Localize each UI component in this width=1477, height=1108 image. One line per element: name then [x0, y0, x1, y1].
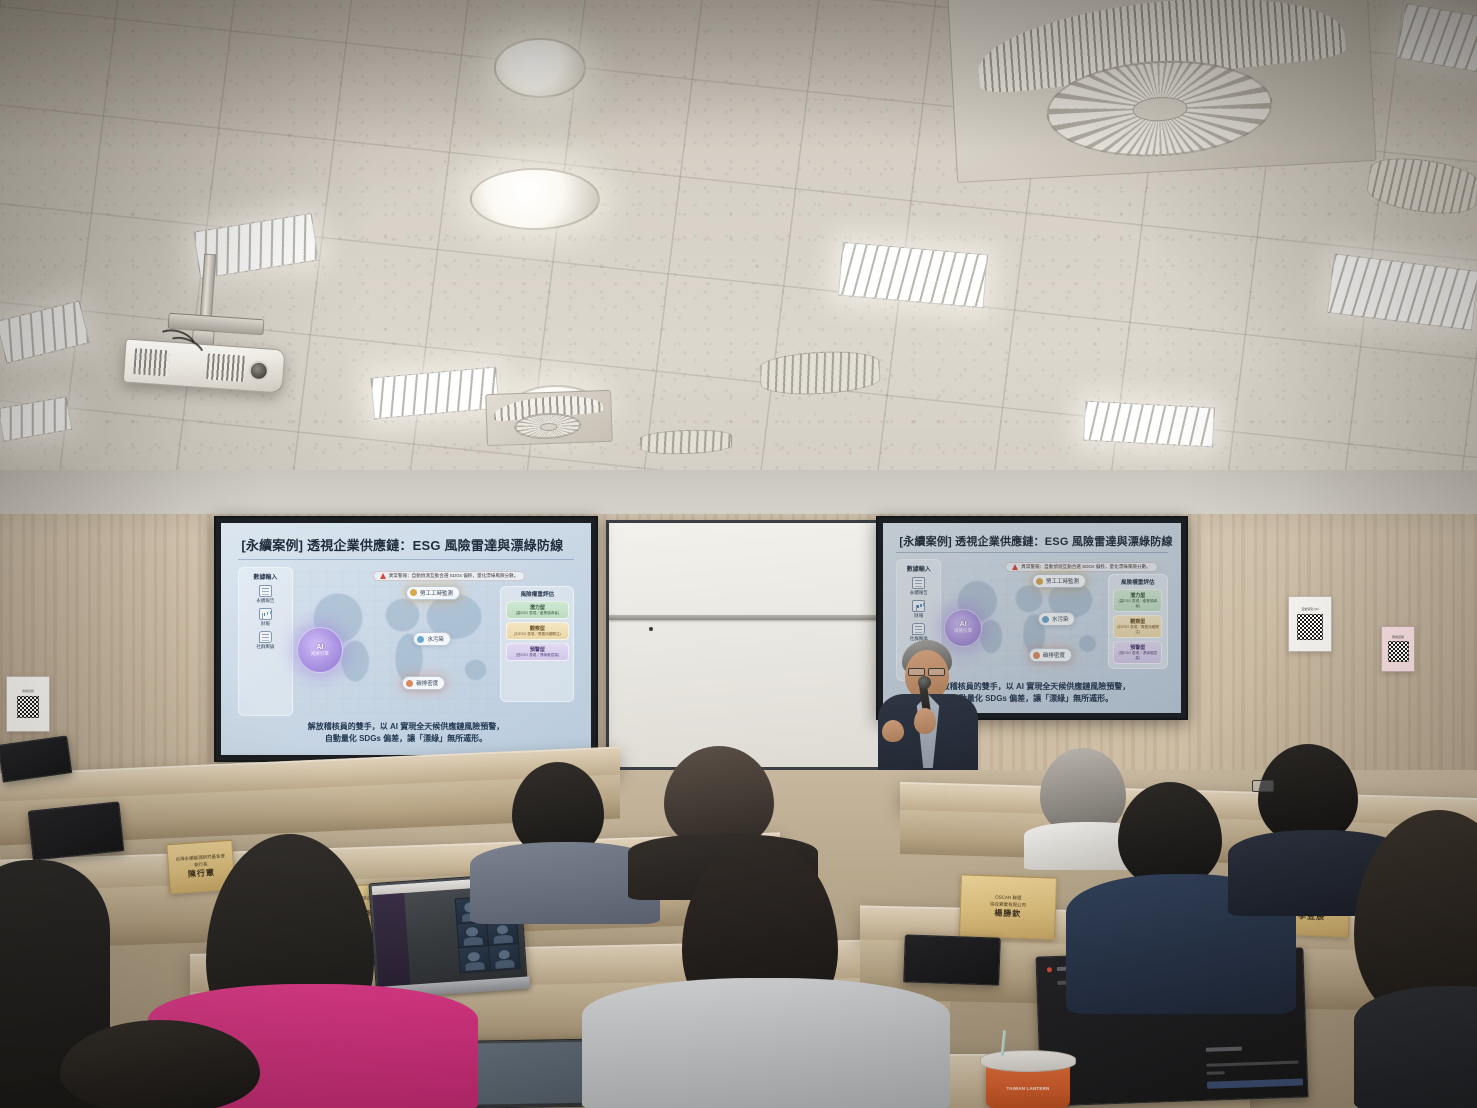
speaker-glasses — [908, 668, 925, 676]
water-icon — [1042, 616, 1049, 623]
risk-card-title: 觀察型 — [509, 625, 566, 632]
worker-icon — [1036, 578, 1043, 585]
slide-title-underline — [238, 559, 575, 560]
qr-code-icon — [1297, 614, 1323, 640]
whiteboard — [606, 520, 886, 770]
risk-card-sub: (中ESG 表現／需要持續關注) — [509, 632, 566, 637]
data-source-item: 財報 — [912, 600, 925, 619]
risk-card-sub: (高ESG 表現／產業領導者) — [509, 611, 566, 616]
data-source-item: 永續報告 — [910, 577, 928, 596]
risk-node-carbon: 碳排密度 — [1029, 648, 1072, 662]
risk-card-sub: (中ESG 表現／需要持續關注) — [1116, 625, 1159, 635]
screen-text-line — [1206, 1061, 1298, 1067]
torso — [1354, 986, 1477, 1108]
whiteboard-marker-tray — [609, 615, 883, 620]
slide-caption-line2: 自動量化 SDGs 偏差，讓「漂綠」無所遁形。 — [251, 733, 562, 745]
qr-poster: 活動報到 QR — [1288, 596, 1332, 652]
risk-card-title: 預警型 — [509, 646, 566, 653]
data-source-label: 永續報告 — [256, 598, 274, 604]
speaker-hand-gesture — [882, 720, 904, 742]
whiteboard-magnet — [649, 627, 653, 631]
microphone-head — [918, 676, 931, 689]
carbon-icon — [406, 680, 413, 687]
app-status-dot — [1047, 967, 1052, 972]
cup-lid — [980, 1050, 1076, 1072]
qr-code-icon — [17, 696, 39, 718]
hair — [60, 1020, 260, 1108]
risk-weight-header: 風險權重評估 — [1121, 578, 1155, 586]
audience-member — [60, 1020, 260, 1108]
data-input-header: 數據輸入 — [907, 564, 931, 573]
slide-caption: 解放稽核員的雙手，以 AI 實現全天候供應鏈風險預警， 自動量化 SDGs 偏差… — [251, 721, 562, 746]
head — [1118, 782, 1222, 888]
slide-title: [永續案例] 透視企業供應鏈：ESG 風險雷達與漂綠防線 — [241, 535, 563, 554]
risk-card-potential: 潛力型 (高ESG 表現／產業領導者) — [1113, 589, 1162, 612]
data-source-label: 財報 — [261, 621, 270, 627]
risk-card-title: 潛力型 — [509, 604, 566, 611]
torso — [582, 978, 950, 1108]
head — [1258, 744, 1358, 844]
poster-title: 會場資訊 — [10, 690, 46, 694]
alert-text: 異常警報：自動偵測互動合選 SDGs 偏移，量化漂綠風險分數。 — [1021, 564, 1151, 570]
warning-triangle-icon — [1012, 564, 1018, 570]
risk-node-label: 勞工工時監測 — [1046, 577, 1079, 585]
risk-node-label: 碳排密度 — [1043, 651, 1065, 659]
projector-vent — [206, 353, 246, 382]
screen-text-line — [1206, 1047, 1242, 1052]
conference-room-photo: 活動報到 QR 問卷回饋 會場資訊 [永續案例] 透視企業供應鏈：ESG 風險雷… — [0, 0, 1477, 1108]
worker-icon — [410, 589, 417, 596]
audience-member — [1354, 810, 1477, 1108]
risk-node-label: 碳排密度 — [416, 679, 438, 687]
risk-card-sub: (低ESG 表現／漂綠風險高) — [1116, 651, 1159, 661]
water-icon — [417, 636, 424, 643]
screen-input-field[interactable] — [1207, 1078, 1303, 1088]
risk-node-label: 水污染 — [427, 635, 444, 643]
ai-risk-engine-core: AI 風險引擎 — [297, 627, 343, 673]
slide-title-underline — [896, 552, 1167, 553]
ceiling-shading — [0, 0, 1477, 500]
chart-icon — [259, 608, 272, 620]
data-source-label: 社群輿論 — [256, 644, 274, 650]
slide-content-left: [永續案例] 透視企業供應鏈：ESG 風險雷達與漂綠防線 數據輸入 永續報告 財… — [221, 523, 591, 755]
slide-risk-weight-panel: 風險權重評估 潛力型 (高ESG 表現／產業領導者) 觀察型 (中ESG 表現／… — [500, 586, 574, 702]
speaker-glasses — [928, 668, 945, 676]
risk-node-carbon: 碳排密度 — [402, 676, 445, 690]
poster-title: 活動報到 QR — [1292, 608, 1328, 612]
risk-node-labor: 勞工工時監測 — [1032, 574, 1086, 588]
qr-poster: 會場資訊 — [6, 676, 50, 732]
risk-node-label: 水污染 — [1052, 615, 1069, 623]
risk-card-watch: 觀察型 (中ESG 表現／需要持續關注) — [506, 622, 569, 640]
risk-card-alert: 預警型 (低ESG 表現／漂綠風險高) — [1113, 641, 1162, 664]
data-source-item: 財報 — [259, 608, 272, 627]
chat-icon — [259, 631, 272, 643]
projection-screen-left: [永續案例] 透視企業供應鏈：ESG 風險雷達與漂綠防線 數據輸入 永續報告 財… — [214, 516, 598, 762]
document-icon — [912, 577, 925, 589]
core-label-primary: AI — [316, 644, 323, 651]
document-icon — [259, 585, 272, 597]
qr-poster: 問卷回饋 — [1381, 626, 1415, 672]
risk-card-alert: 預警型 (低ESG 表現／漂綠風險高) — [506, 643, 569, 661]
qr-code-icon — [1388, 641, 1409, 662]
alert-text: 異常警報：自動偵測互動合選 SDGs 偏移，量化漂綠風險分數。 — [389, 573, 519, 579]
core-label-secondary: 風險引擎 — [954, 628, 972, 634]
name-placard: OSCAR 聯盟 協合實業有限公司 楊勝欽 — [959, 874, 1057, 939]
data-source-label: 財報 — [914, 613, 923, 619]
cup-brand-text: TAIWAN LANTERN — [986, 1086, 1070, 1091]
risk-node-label: 勞工工時監測 — [420, 589, 453, 597]
screen-text-line — [1207, 1071, 1225, 1075]
ceiling — [0, 0, 1477, 500]
risk-card-sub: (低ESG 表現／漂綠風險高) — [509, 653, 566, 658]
poster-title: 問卷回饋 — [1385, 636, 1411, 640]
carbon-icon — [1033, 652, 1040, 659]
speaker-hand-mic — [914, 708, 936, 734]
risk-card-sub: (高ESG 表現／產業領導者) — [1116, 599, 1159, 609]
placard-name: 楊勝欽 — [994, 908, 1021, 920]
risk-node-water: 水污染 — [413, 632, 451, 646]
data-source-label: 永續報告 — [910, 590, 928, 596]
warning-triangle-icon — [380, 573, 386, 579]
chat-icon — [912, 623, 925, 635]
slide-alert-banner: 異常警報：自動偵測互動合選 SDGs 偏移，量化漂綠風險分數。 — [1005, 562, 1158, 572]
glasses — [1252, 780, 1274, 792]
data-source-item: 永續報告 — [256, 585, 274, 604]
data-input-header: 數據輸入 — [253, 572, 277, 581]
risk-weight-header: 風險權重評估 — [521, 590, 555, 598]
risk-card-potential: 潛力型 (高ESG 表現／產業領導者) — [506, 601, 569, 619]
projector-lens — [248, 360, 269, 381]
chart-icon — [912, 600, 925, 612]
core-label-primary: AI — [960, 621, 967, 628]
risk-node-water: 水污染 — [1038, 612, 1076, 626]
data-source-item: 社群輿論 — [256, 631, 274, 650]
slide-data-input-panel: 數據輸入 永續報告 財報 社群輿論 — [238, 567, 294, 715]
slide-alert-banner: 異常警報：自動偵測互動合選 SDGs 偏移，量化漂綠風險分數。 — [373, 571, 526, 581]
placard-org-line1: OSCAR 聯盟 — [995, 894, 1021, 901]
video-participant-tile — [489, 944, 520, 970]
slide-title: [永續案例] 透視企業供應鏈：ESG 風險雷達與漂綠防線 — [899, 533, 1172, 549]
audience-member — [582, 840, 950, 1108]
risk-node-labor: 勞工工時監測 — [406, 586, 460, 600]
slide-risk-weight-panel: 風險權重評估 潛力型 (高ESG 表現／產業領導者) 觀察型 (中ESG 表現／… — [1108, 574, 1168, 669]
slide-caption-line1: 解放稽核員的雙手，以 AI 實現全天候供應鏈風險預警， — [251, 721, 562, 733]
risk-card-watch: 觀察型 (中ESG 表現／需要持續關注) — [1113, 615, 1162, 638]
core-label-secondary: 風險引擎 — [311, 651, 329, 657]
